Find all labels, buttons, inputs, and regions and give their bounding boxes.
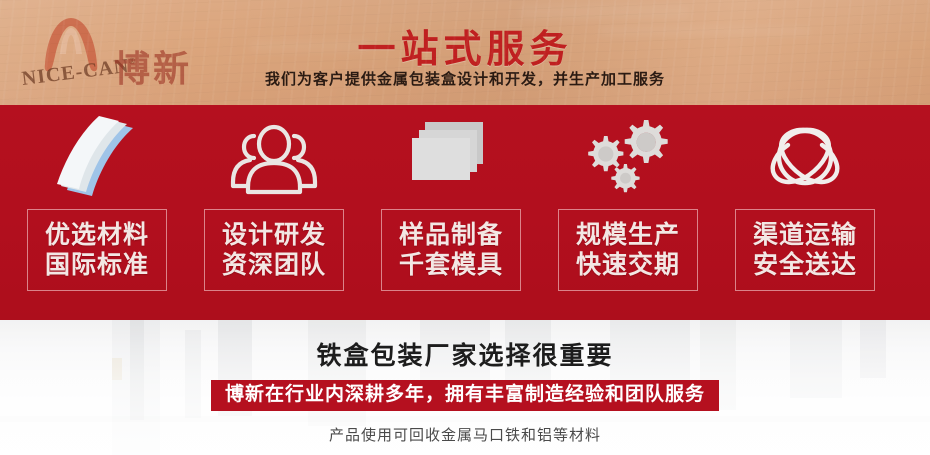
- feature-label-line1: 优选材料: [45, 220, 149, 251]
- feature-item[interactable]: 渠道运输 安全送达: [716, 105, 894, 320]
- feature-item[interactable]: 规模生产 快速交期: [539, 105, 717, 320]
- stacked-plates-icon: [362, 113, 540, 205]
- people-team-icon: [185, 113, 363, 205]
- feature-label-box: 渠道运输 安全送达: [735, 209, 875, 291]
- feature-label-box: 设计研发 资深团队: [204, 209, 344, 291]
- footer-banner-wrap: 博新在行业内深耕多年，拥有丰富制造经验和团队服务: [0, 380, 930, 411]
- footer-band: 铁盒包装厂家选择很重要 博新在行业内深耕多年，拥有丰富制造经验和团队服务 产品使…: [0, 320, 930, 455]
- feature-label-line1: 规模生产: [576, 220, 680, 251]
- footer-heading: 铁盒包装厂家选择很重要: [0, 336, 930, 372]
- feature-label-line2: 千套模具: [399, 250, 503, 281]
- page-title: 一站式服务: [0, 18, 930, 73]
- page-subtitle: 我们为客户提供金属包装盒设计和开发，并生产加工服务: [0, 68, 930, 89]
- feature-label-line1: 渠道运输: [753, 220, 857, 251]
- promo-banner: NICE-CAN® 博新 一站式服务 我们为客户提供金属包装盒设计和开发，并生产…: [0, 0, 930, 455]
- feature-label-line2: 安全送达: [753, 250, 857, 281]
- feature-label-line2: 资深团队: [222, 250, 326, 281]
- footer-banner: 博新在行业内深耕多年，拥有丰富制造经验和团队服务: [211, 380, 719, 411]
- feature-item[interactable]: 优选材料 国际标准: [8, 105, 186, 320]
- globe-network-icon: [716, 113, 894, 205]
- stacked-papers-icon: [8, 113, 186, 205]
- feature-label-line2: 国际标准: [45, 250, 149, 281]
- gears-icon: [539, 113, 717, 205]
- feature-label-line1: 设计研发: [222, 220, 326, 251]
- footer-subtext: 产品使用可回收金属马口铁和铝等材料: [0, 424, 930, 445]
- features-band: 优选材料 国际标准 设计研发 资深团队: [0, 105, 930, 320]
- feature-item[interactable]: 样品制备 千套模具: [362, 105, 540, 320]
- header-band: NICE-CAN® 博新 一站式服务 我们为客户提供金属包装盒设计和开发，并生产…: [0, 0, 930, 105]
- bg-photo-shape: [0, 416, 930, 422]
- feature-item[interactable]: 设计研发 资深团队: [185, 105, 363, 320]
- feature-label-box: 规模生产 快速交期: [558, 209, 698, 291]
- feature-label-box: 样品制备 千套模具: [381, 209, 521, 291]
- feature-label-line2: 快速交期: [576, 250, 680, 281]
- feature-label-box: 优选材料 国际标准: [27, 209, 167, 291]
- feature-label-line1: 样品制备: [399, 220, 503, 251]
